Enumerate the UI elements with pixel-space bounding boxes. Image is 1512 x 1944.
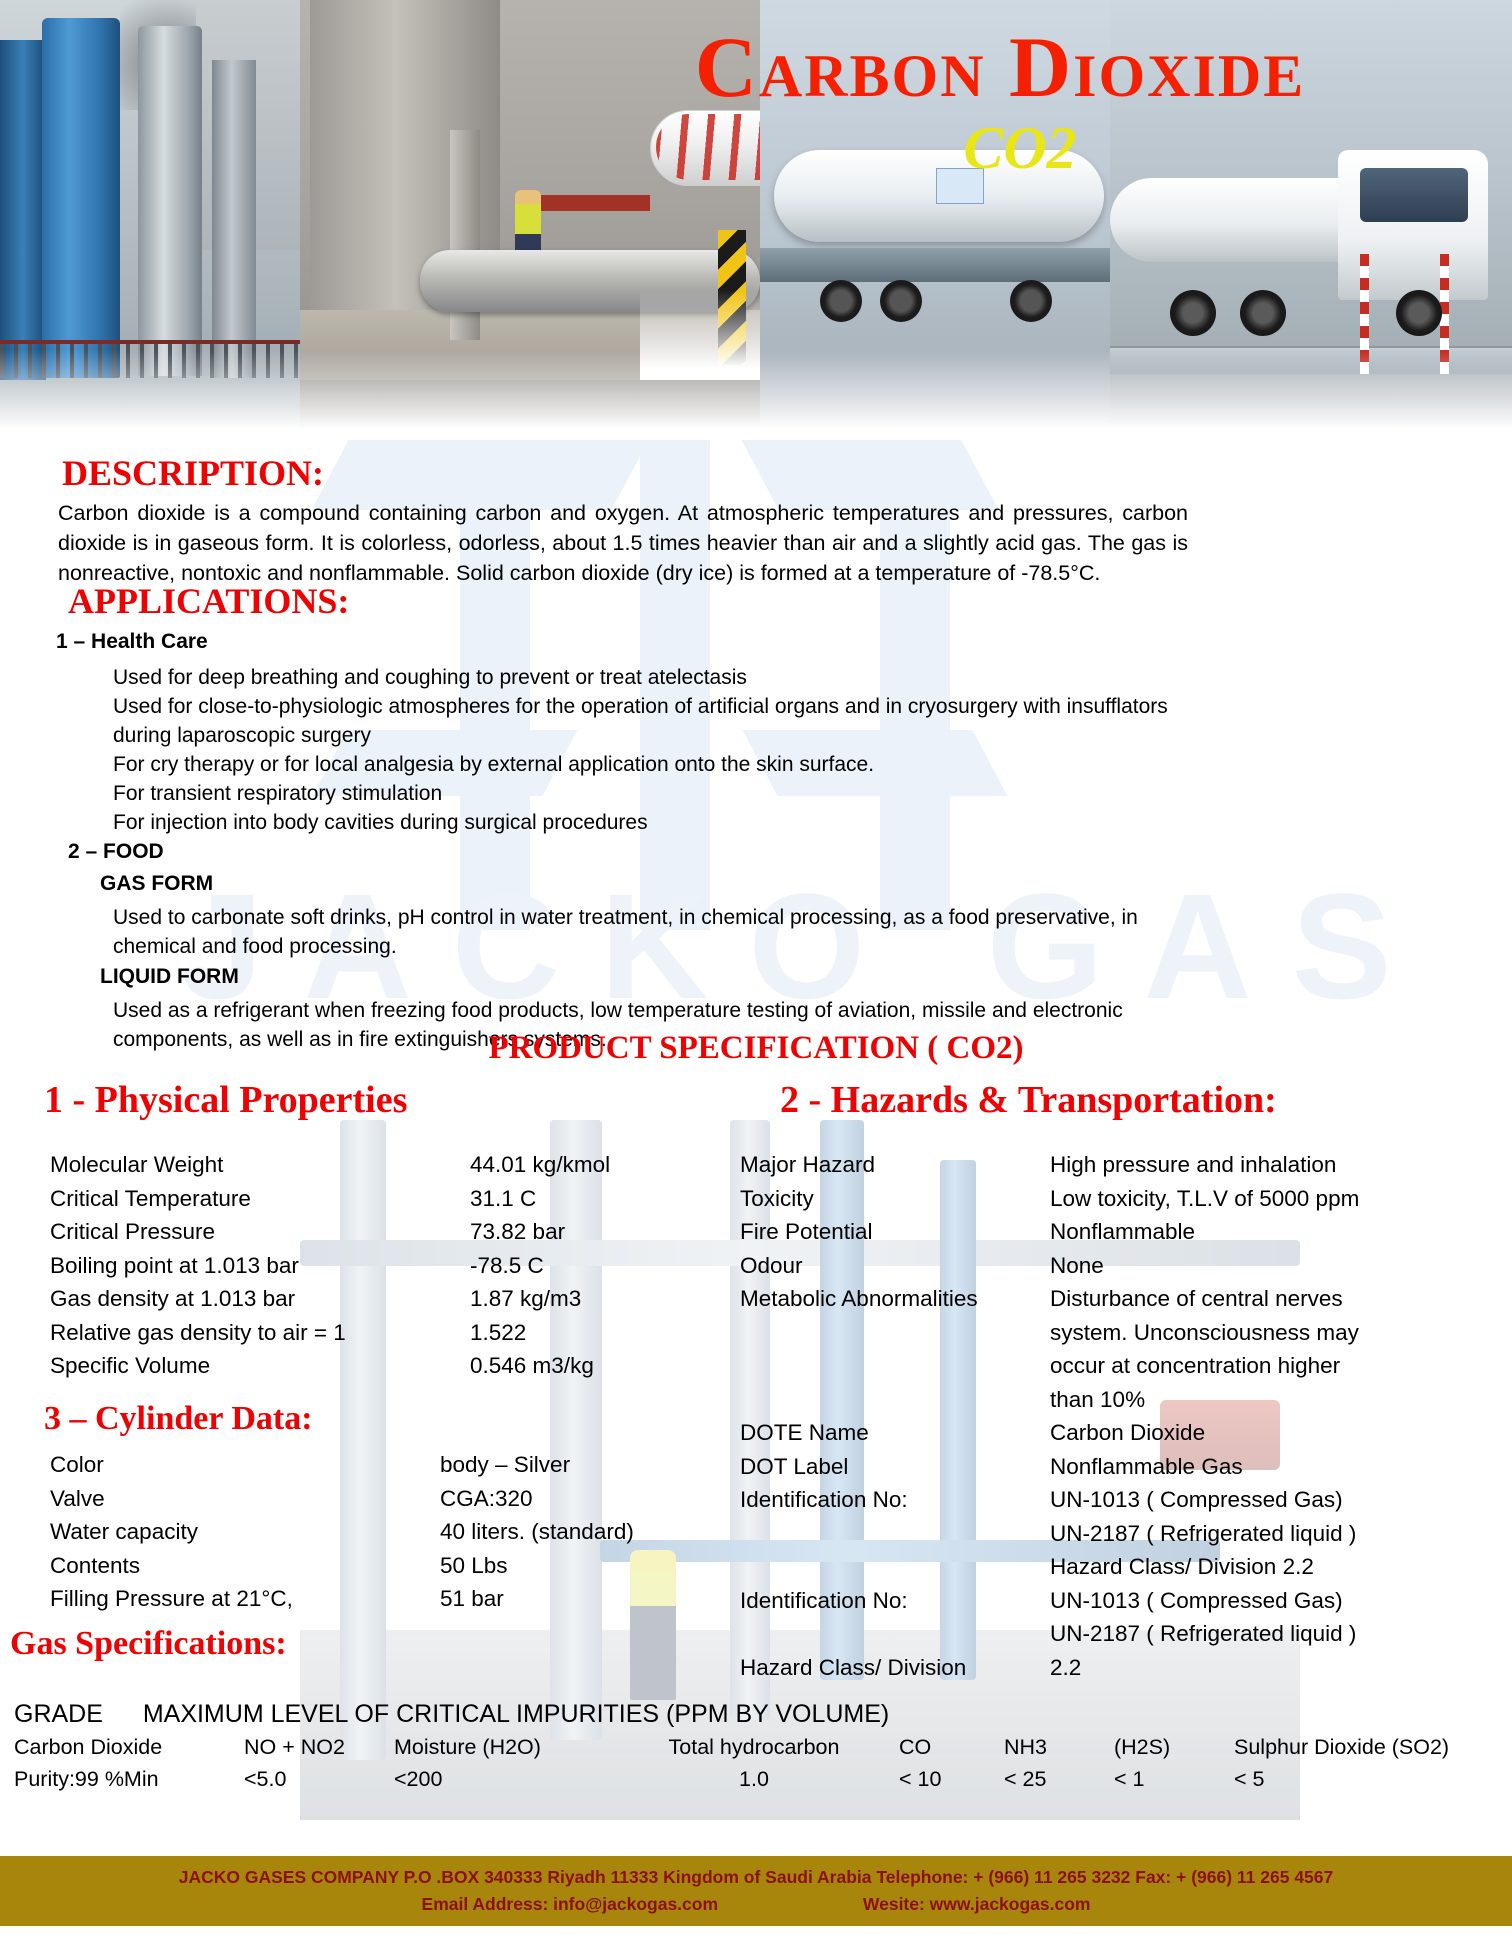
gas-spec-column-header: Carbon Dioxide [14,1731,244,1763]
spec-row: ValveCGA:320 [50,1482,710,1516]
spec-value: -78.5 C [470,1249,544,1283]
gas-spec-column-header: CO [899,1731,1004,1763]
spec-value: 50 Lbs [440,1549,508,1583]
spec-row: Filling Pressure at 21°C,51 bar [50,1582,710,1616]
spec-key: Valve [50,1482,440,1516]
spec-row: Hazard Class/ Division2.2 [740,1651,1500,1685]
spec-value: Nonflammable [1050,1215,1500,1249]
cylinder-data-heading: 3 – Cylinder Data: [44,1400,313,1438]
spec-value: 1.522 [470,1316,526,1350]
footer-email: Email Address: info@jackogas.com [422,1894,719,1914]
gas-spec-column: NO + NO2<5.0 [244,1731,394,1795]
gas-spec-column-value: < 5 [1234,1763,1494,1795]
spec-key: Identification No: [740,1584,1050,1618]
applications-group-health-care: 1 – Health Care [56,630,208,654]
gas-spec-column-header: Moisture (H2O) [394,1731,609,1763]
application-item: For injection into body cavities during … [113,808,648,837]
footer-contact-line: Email Address: info@jackogas.com Wesite:… [0,1891,1512,1918]
spec-key: DOT Label [740,1450,1050,1484]
applications-liquid-form-title: LIQUID FORM [100,965,239,989]
spec-value: UN-1013 ( Compressed Gas) [1050,1584,1500,1618]
hazards-transportation-table: Major HazardHigh pressure and inhalation… [740,1148,1500,1684]
spec-value: 51 bar [440,1582,504,1616]
spec-row: Colorbody – Silver [50,1448,710,1482]
spec-row: Hazard Class/ Division 2.2 [740,1550,1500,1584]
spec-value: system. Unconsciousness may [1050,1316,1500,1350]
description-text: Carbon dioxide is a compound containing … [58,498,1188,588]
spec-row: Relative gas density to air = 11.522 [50,1316,710,1350]
truck-wheel [1170,290,1216,336]
cylinder-data-table: Colorbody – SilverValveCGA:320Water capa… [50,1448,710,1616]
application-item: Used as a refrigerant when freezing food… [113,996,1123,1025]
spec-key [740,1383,1050,1417]
gas-spec-column: CO< 10 [899,1731,1004,1795]
spec-key: Molecular Weight [50,1148,470,1182]
hazards-transportation-heading: 2 - Hazards & Transportation: [780,1078,1277,1122]
spec-row: Identification No:UN-1013 ( Compressed G… [740,1584,1500,1618]
spec-key: Metabolic Abnormalities [740,1282,1050,1316]
spec-row: occur at concentration higher [740,1349,1500,1383]
gas-spec-column-value: <5.0 [244,1763,394,1795]
spec-key: Gas density at 1.013 bar [50,1282,470,1316]
spec-key: Identification No: [740,1483,1050,1517]
application-item: Used to carbonate soft drinks, pH contro… [113,903,1138,932]
gas-spec-column: Carbon DioxidePurity:99 %Min [14,1731,244,1795]
gas-spec-column: Moisture (H2O)<200 [394,1731,609,1795]
spec-value: 31.1 C [470,1182,536,1216]
weighbridge-scale [1110,346,1512,374]
truck-windshield [1360,168,1468,222]
spec-value: 2.2 [1050,1651,1500,1685]
description-heading: DESCRIPTION: [62,452,324,494]
spec-key: Critical Temperature [50,1182,470,1216]
physical-properties-table: Molecular Weight44.01 kg/kmolCritical Te… [50,1148,710,1383]
spec-key: Toxicity [740,1182,1050,1216]
gas-spec-column-header: NH3 [1004,1731,1114,1763]
spec-value: High pressure and inhalation [1050,1148,1500,1182]
spec-row: Critical Temperature31.1 C [50,1182,710,1216]
gas-specifications-table: GRADE MAXIMUM LEVEL OF CRITICAL IMPURITI… [14,1700,1504,1795]
spec-row: Metabolic AbnormalitiesDisturbance of ce… [740,1282,1500,1316]
spec-value: occur at concentration higher [1050,1349,1500,1383]
application-item: during laparoscopic surgery [113,721,371,750]
blue-tank-secondary [0,40,46,380]
photo-storage-tanks [0,0,310,440]
page-title: Carbon Dioxide [520,24,1480,110]
spec-row: Molecular Weight44.01 kg/kmol [50,1148,710,1182]
spec-value: Hazard Class/ Division 2.2 [1050,1550,1500,1584]
gas-spec-impurities-label: MAXIMUM LEVEL OF CRITICAL IMPURITIES (PP… [143,1700,889,1728]
grey-tank-secondary [212,60,256,378]
application-item: For transient respiratory stimulation [113,779,442,808]
spec-key [740,1316,1050,1350]
spec-key: Water capacity [50,1515,440,1549]
spec-value: 0.546 m3/kg [470,1349,594,1383]
gas-spec-column-header: Total hydrocarbon [609,1731,899,1763]
gas-spec-grade-label: GRADE [14,1700,103,1728]
applications-gas-form-title: GAS FORM [100,872,213,896]
spec-row: DOT LabelNonflammable Gas [740,1450,1500,1484]
application-item: Used for close-to-physiologic atmosphere… [113,692,1168,721]
spec-value: Carbon Dioxide [1050,1416,1500,1450]
spec-key: DOTE Name [740,1416,1050,1450]
spec-row: DOTE NameCarbon Dioxide [740,1416,1500,1450]
spec-value: Disturbance of central nerves [1050,1282,1500,1316]
tanker-wheel [880,280,922,322]
spec-key [740,1550,1050,1584]
gas-spec-column-header: Sulphur Dioxide (SO2) [1234,1731,1494,1763]
gas-spec-column: Sulphur Dioxide (SO2)< 5 [1234,1731,1494,1795]
spec-value: 44.01 kg/kmol [470,1148,610,1182]
spec-row: UN-2187 ( Refrigerated liquid ) [740,1617,1500,1651]
spec-row: Contents50 Lbs [50,1549,710,1583]
spec-row: than 10% [740,1383,1500,1417]
truck-wheel [1240,290,1286,336]
spec-row: Critical Pressure73.82 bar [50,1215,710,1249]
spec-row: Boiling point at 1.013 bar-78.5 C [50,1249,710,1283]
spec-key: Odour [740,1249,1050,1283]
spec-value: UN-1013 ( Compressed Gas) [1050,1483,1500,1517]
spec-value: body – Silver [440,1448,570,1482]
applications-group-food: 2 – FOOD [68,840,164,864]
application-item: chemical and food processing. [113,932,397,961]
spec-row: Water capacity40 liters. (standard) [50,1515,710,1549]
spec-value: 40 liters. (standard) [440,1515,634,1549]
tanker-chassis [760,248,1120,282]
gas-spec-column-value: Purity:99 %Min [14,1763,244,1795]
gas-spec-column-header: (H2S) [1114,1731,1234,1763]
spec-value: Low toxicity, T.L.V of 5000 ppm [1050,1182,1500,1216]
spec-value: CGA:320 [440,1482,533,1516]
page-subtitle: CO2 [760,118,1280,178]
spec-key: Relative gas density to air = 1 [50,1316,470,1350]
spec-row: Major HazardHigh pressure and inhalation [740,1148,1500,1182]
physical-properties-heading: 1 - Physical Properties [44,1078,407,1122]
gas-spec-column: (H2S)< 1 [1114,1731,1234,1795]
spec-key [740,1517,1050,1551]
truck-wheel [1396,290,1442,336]
applications-heading: APPLICATIONS: [68,580,349,622]
gas-spec-column-value: <200 [394,1763,609,1795]
spec-value: None [1050,1249,1500,1283]
blue-tank [42,18,120,378]
spec-row: ToxicityLow toxicity, T.L.V of 5000 ppm [740,1182,1500,1216]
spec-row: Fire PotentialNonflammable [740,1215,1500,1249]
spec-key [740,1617,1050,1651]
plant-red-beam [530,195,650,211]
application-item: For cry therapy or for local analgesia b… [113,750,874,779]
spec-key: Fire Potential [740,1215,1050,1249]
spec-key: Specific Volume [50,1349,470,1383]
gas-spec-columns: Carbon DioxidePurity:99 %MinNO + NO2<5.0… [14,1731,1494,1795]
spec-value: 73.82 bar [470,1215,565,1249]
spec-value: UN-2187 ( Refrigerated liquid ) [1050,1517,1500,1551]
spec-key [740,1349,1050,1383]
spec-key: Contents [50,1549,440,1583]
footer-company-line: JACKO GASES COMPANY P.O .BOX 340333 Riya… [0,1864,1512,1891]
tanker-wheel [1010,280,1052,322]
spec-row: UN-2187 ( Refrigerated liquid ) [740,1517,1500,1551]
spec-key: Color [50,1448,440,1482]
gas-spec-column: NH3< 25 [1004,1731,1114,1795]
gas-spec-column: Total hydrocarbon1.0 [609,1731,899,1795]
spec-row: OdourNone [740,1249,1500,1283]
gas-spec-column-value: < 10 [899,1763,1004,1795]
gas-spec-table-title: GRADE MAXIMUM LEVEL OF CRITICAL IMPURITI… [14,1700,1504,1729]
spec-value: than 10% [1050,1383,1500,1417]
product-specification-heading: PRODUCT SPECIFICATION ( CO2) [0,1030,1512,1067]
spec-row: system. Unconsciousness may [740,1316,1500,1350]
grey-tank [138,26,202,376]
gas-specifications-heading: Gas Specifications: [10,1625,287,1663]
footer-contact-bar: JACKO GASES COMPANY P.O .BOX 340333 Riya… [0,1856,1512,1926]
gas-spec-column-header: NO + NO2 [244,1731,394,1763]
spec-row: Gas density at 1.013 bar1.87 kg/m3 [50,1282,710,1316]
spec-value: Nonflammable Gas [1050,1450,1500,1484]
spec-row: Identification No:UN-1013 ( Compressed G… [740,1483,1500,1517]
spec-key: Major Hazard [740,1148,1050,1182]
spec-value: UN-2187 ( Refrigerated liquid ) [1050,1617,1500,1651]
safety-post [1360,254,1369,374]
spec-value: 1.87 kg/m3 [470,1282,581,1316]
tanker-wheel [820,280,862,322]
spec-key: Boiling point at 1.013 bar [50,1249,470,1283]
spec-key: Filling Pressure at 21°C, [50,1582,440,1616]
spec-key: Critical Pressure [50,1215,470,1249]
footer-website: Wesite: www.jackogas.com [863,1894,1091,1914]
spec-row: Specific Volume0.546 m3/kg [50,1349,710,1383]
gas-spec-column-value: 1.0 [609,1763,899,1795]
gas-spec-column-value: < 25 [1004,1763,1114,1795]
spec-key: Hazard Class/ Division [740,1651,1050,1685]
site-railing [0,340,310,378]
gas-spec-column-value: < 1 [1114,1763,1234,1795]
application-item: Used for deep breathing and coughing to … [113,663,747,692]
